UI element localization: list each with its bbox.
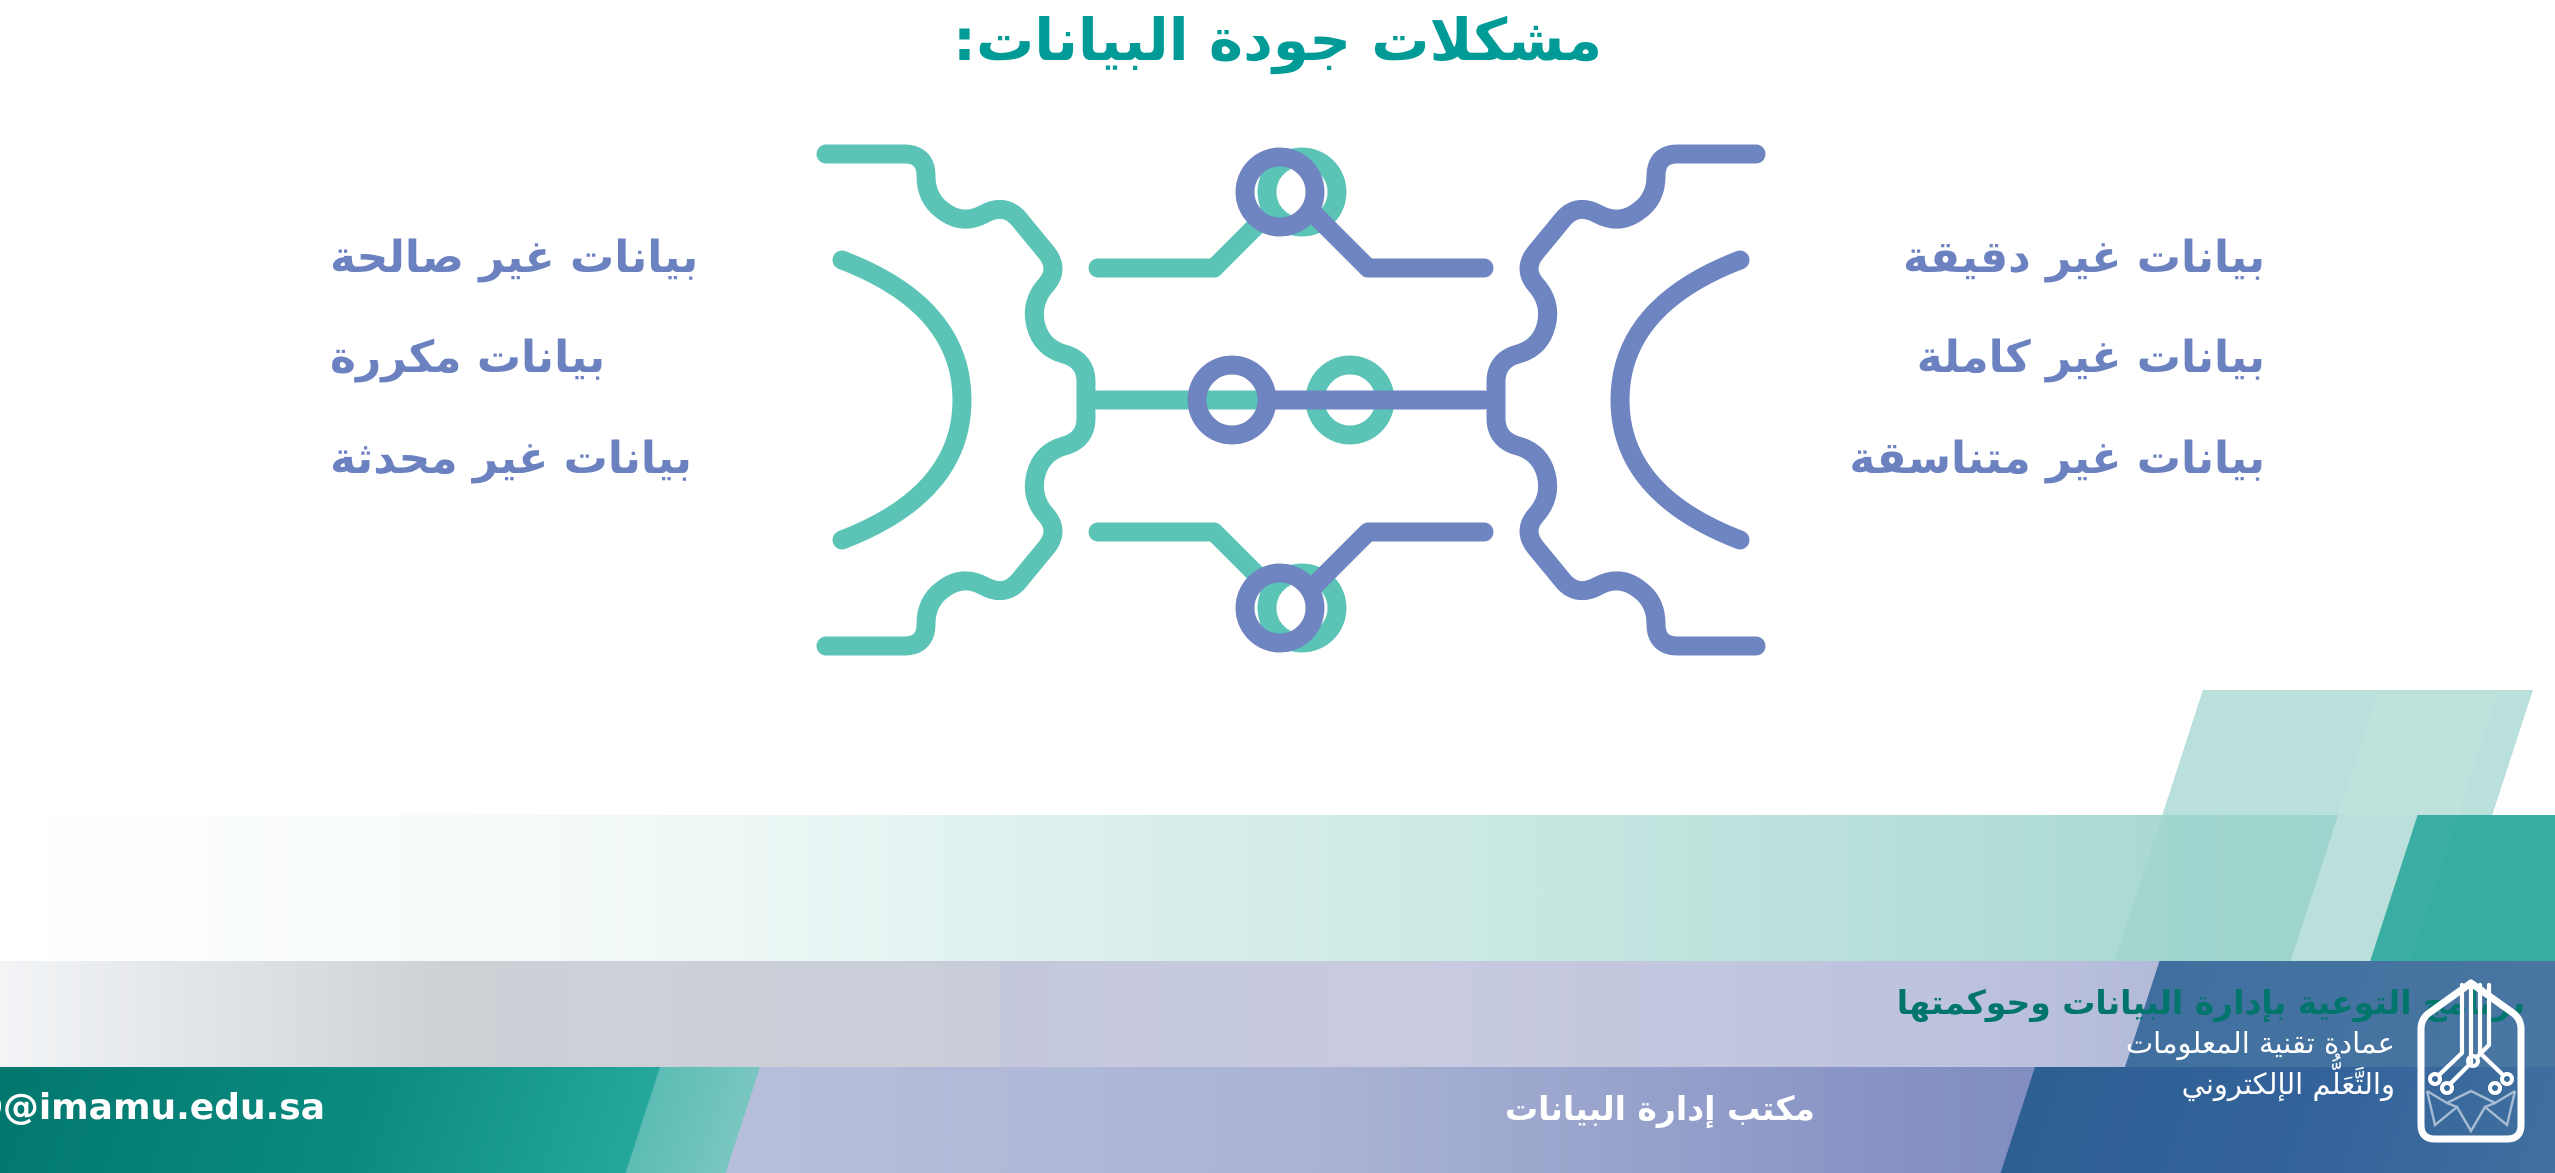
issue-label: بيانات غير صالحة: [330, 230, 698, 286]
issues-left-column: بيانات غير صالحة بيانات مكررة بيانات غير…: [330, 230, 698, 487]
issue-label: بيانات غير متناسقة: [1849, 431, 2265, 487]
footer-bar: برنامج التوعية بإدارة البيانات وحوكمتها …: [0, 961, 2555, 1173]
deanship-logo-text: عمادة تقنية المعلومات والتَّعَلُّم الإلك…: [2126, 1023, 2395, 1105]
email-text: DMO@imamu.edu.sa: [0, 1087, 325, 1128]
decorative-parallelogram-b: [2362, 815, 2555, 985]
issue-label: بيانات غير دقيقة: [1849, 230, 2265, 286]
page-title: مشكلات جودة البيانات:: [0, 6, 2555, 74]
logo-line-2: والتَّعَلُّم الإلكتروني: [2126, 1064, 2395, 1105]
decorative-parallelogram-a: [2107, 690, 2533, 985]
issues-right-column: بيانات غير دقيقة بيانات غير كاملة بيانات…: [1849, 230, 2265, 487]
gear-right-icon: [1197, 154, 1756, 646]
circuit-board-arch-logo-icon: [2417, 979, 2525, 1149]
issue-label: بيانات مكررة: [330, 330, 698, 386]
issue-label: بيانات غير محدثة: [330, 431, 698, 487]
issue-label: بيانات غير كاملة: [1849, 330, 2265, 386]
contact-email[interactable]: DMO@imamu.edu.sa: [0, 1087, 325, 1128]
decorative-parallelogram-c: [2283, 695, 2497, 985]
logo-line-1: عمادة تقنية المعلومات: [2126, 1023, 2395, 1064]
slide-canvas: مشكلات جودة البيانات: بيانات غير دقيقة ب…: [0, 0, 2555, 1173]
soft-teal-band: [0, 815, 2555, 985]
footer-top-left-wash: [0, 961, 1000, 1067]
data-quality-gear-graphic: [760, 140, 1820, 660]
deanship-logo: عمادة تقنية المعلومات والتَّعَلُّم الإلك…: [2126, 979, 2525, 1149]
office-title: مكتب إدارة البيانات: [1505, 1089, 1815, 1128]
gear-graphic-svg: [760, 140, 1820, 660]
